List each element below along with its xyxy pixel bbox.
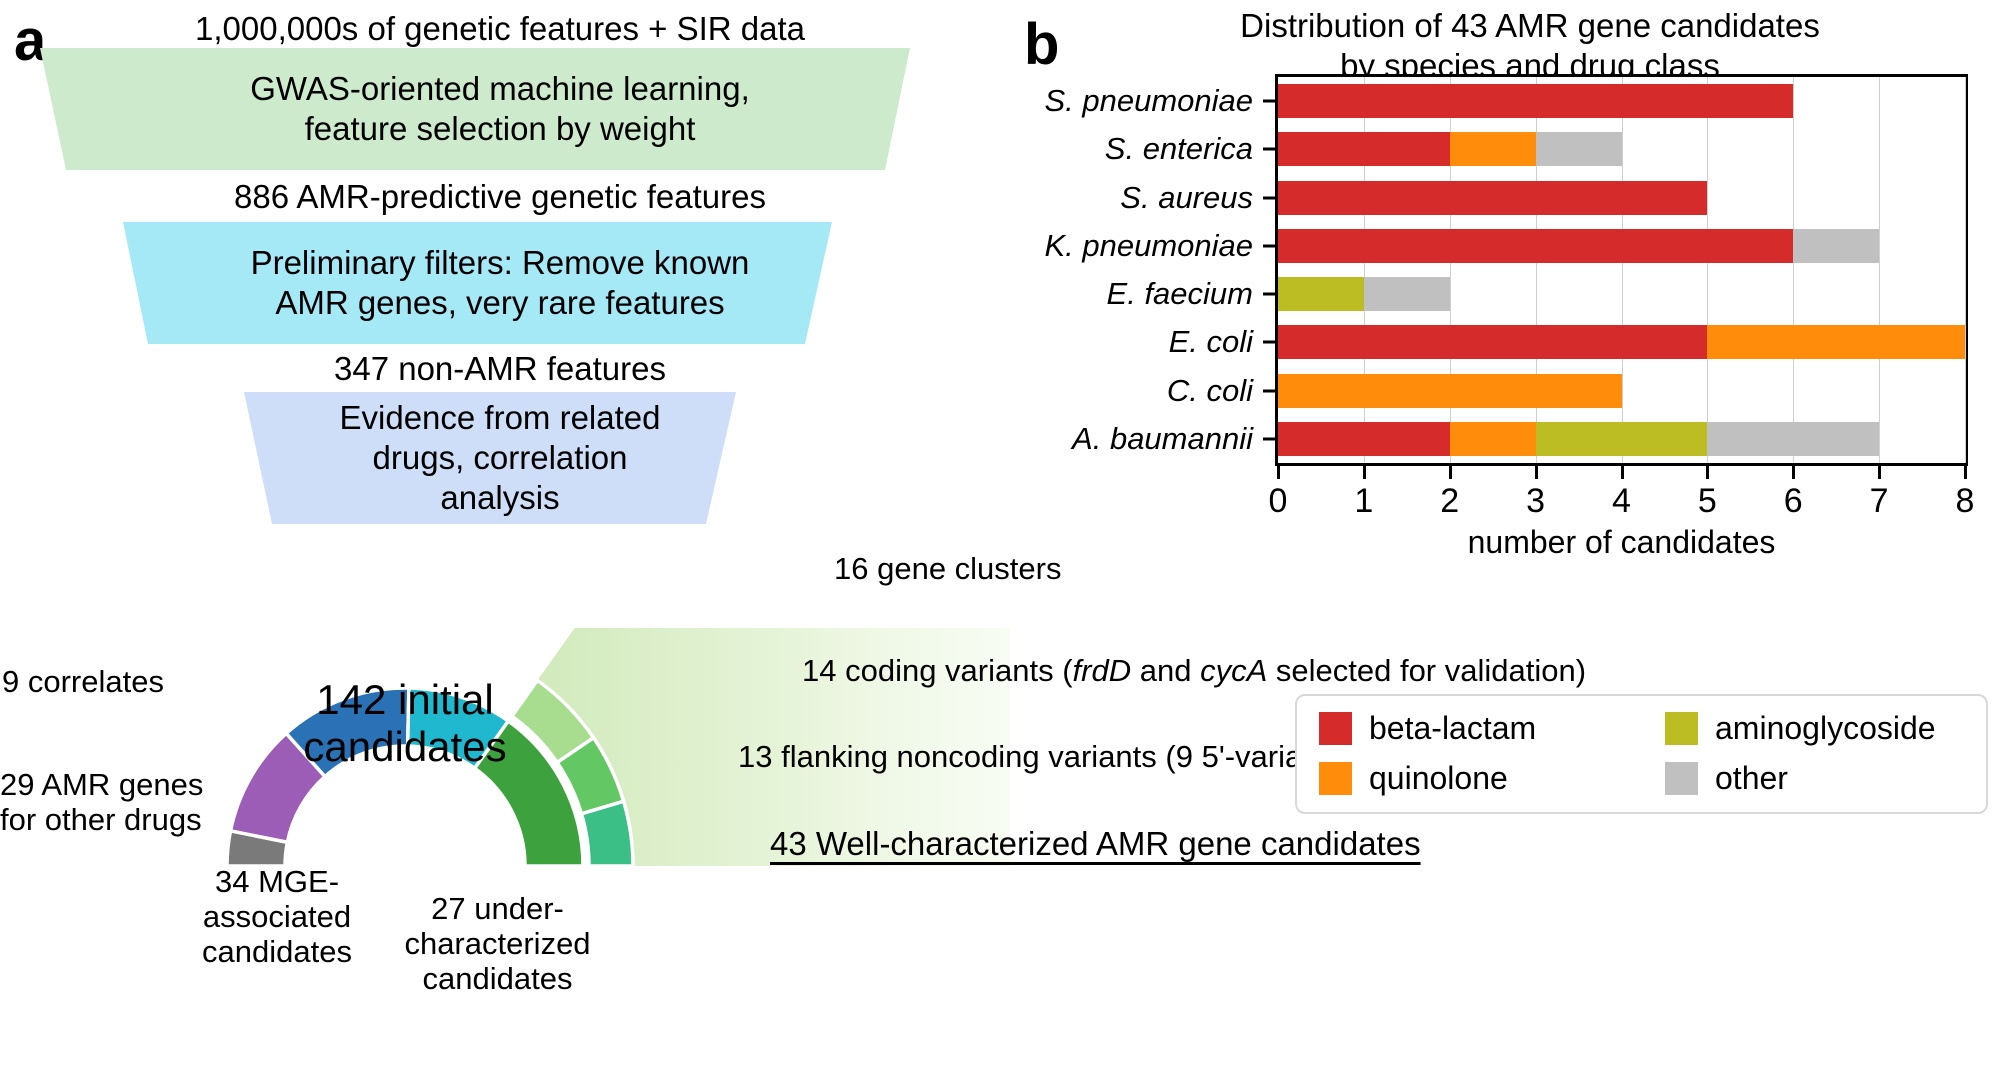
gridline-4 bbox=[1622, 77, 1623, 463]
funnel-band-preliminary-filters-label: Preliminary filters: Remove known AMR ge… bbox=[211, 243, 790, 324]
legend-item-betalactam[interactable]: beta-lactam bbox=[1319, 710, 1536, 747]
x-tick-mark-8 bbox=[1964, 466, 1967, 479]
bar-segment-beta-lactam bbox=[1278, 422, 1450, 456]
y-tick-mark bbox=[1263, 196, 1275, 199]
x-tick-mark-0 bbox=[1277, 466, 1280, 479]
funnel-band-evidence-label: Evidence from related drugs, correlation… bbox=[300, 398, 701, 519]
donut-label-amr-genes: 29 AMR genes for other drugs bbox=[0, 767, 203, 837]
legend-swatch-aminoglycoside bbox=[1665, 712, 1698, 745]
bar-row bbox=[1278, 325, 1965, 359]
x-tick-mark-5 bbox=[1706, 466, 1709, 479]
plot-area bbox=[1275, 74, 1968, 466]
y-tick-label-kpneumoniae: K. pneumoniae bbox=[1000, 228, 1253, 264]
x-tick-mark-3 bbox=[1535, 466, 1538, 479]
x-tick-label-7: 7 bbox=[1870, 482, 1889, 521]
donut-label-correlates: 9 correlates bbox=[2, 664, 164, 699]
donut-outer-segment-flanking-noncoding bbox=[581, 801, 633, 866]
legend-item-quinolone[interactable]: quinolone bbox=[1319, 760, 1508, 797]
legend-swatch-other bbox=[1665, 762, 1698, 795]
bar-segment-beta-lactam bbox=[1278, 229, 1793, 263]
bar-segment-quinolone bbox=[1450, 132, 1536, 166]
chart-legend: beta-lactamaminoglycosidequinoloneother bbox=[1295, 694, 1988, 814]
y-tick-mark bbox=[1263, 100, 1275, 103]
x-tick-label-4: 4 bbox=[1612, 482, 1631, 521]
y-tick-mark bbox=[1263, 341, 1275, 344]
bar-row bbox=[1278, 422, 1879, 456]
bar-row bbox=[1278, 229, 1879, 263]
legend-label: quinolone bbox=[1369, 760, 1508, 797]
x-tick-label-6: 6 bbox=[1784, 482, 1803, 521]
funnel-band-gwas: GWAS-oriented machine learning, feature … bbox=[0, 48, 1000, 170]
bar-segment-other bbox=[1707, 422, 1879, 456]
x-tick-label-0: 0 bbox=[1269, 482, 1288, 521]
x-tick-mark-6 bbox=[1792, 466, 1795, 479]
funnel-band-preliminary-filters: Preliminary filters: Remove known AMR ge… bbox=[0, 222, 1000, 344]
bar-row bbox=[1278, 277, 1450, 311]
legend-label: other bbox=[1715, 760, 1788, 797]
bar-segment-other bbox=[1793, 229, 1879, 263]
y-tick-mark bbox=[1263, 437, 1275, 440]
funnel-text-347-features: 347 non-AMR features bbox=[0, 350, 1000, 389]
gridline-7 bbox=[1879, 77, 1880, 463]
x-tick-mark-2 bbox=[1449, 466, 1452, 479]
bar-segment-quinolone bbox=[1278, 374, 1622, 408]
x-tick-mark-1 bbox=[1363, 466, 1366, 479]
legend-swatch-quinolone bbox=[1319, 762, 1352, 795]
legend-label: beta-lactam bbox=[1369, 710, 1536, 747]
y-tick-label-spneumoniae: S. pneumoniae bbox=[1000, 83, 1253, 119]
bar-segment-beta-lactam bbox=[1278, 325, 1707, 359]
bar-segment-quinolone bbox=[1450, 422, 1536, 456]
legend-item-other[interactable]: other bbox=[1665, 760, 1788, 797]
bar-segment-aminoglycoside bbox=[1536, 422, 1708, 456]
funnel-band-evidence: Evidence from related drugs, correlation… bbox=[0, 392, 1000, 524]
bar-segment-aminoglycoside bbox=[1278, 277, 1364, 311]
bar-segment-other bbox=[1364, 277, 1450, 311]
donut-center-label: 142 initial candidates bbox=[265, 676, 545, 770]
y-tick-label-ccoli: C. coli bbox=[1000, 373, 1253, 409]
y-tick-mark bbox=[1263, 293, 1275, 296]
donut-label-mge: 34 MGE- associated candidates bbox=[172, 864, 382, 969]
bar-row bbox=[1278, 84, 1793, 118]
funnel-band-gwas-label: GWAS-oriented machine learning, feature … bbox=[210, 69, 790, 150]
x-tick-label-2: 2 bbox=[1440, 482, 1459, 521]
x-tick-mark-7 bbox=[1878, 466, 1881, 479]
gridline-6 bbox=[1793, 77, 1794, 463]
y-tick-mark bbox=[1263, 389, 1275, 392]
bar-segment-beta-lactam bbox=[1278, 84, 1793, 118]
gridline-5 bbox=[1707, 77, 1708, 463]
bar-row bbox=[1278, 132, 1622, 166]
y-tick-label-ecoli: E. coli bbox=[1000, 324, 1253, 360]
x-tick-label-1: 1 bbox=[1354, 482, 1373, 521]
y-tick-mark bbox=[1263, 244, 1275, 247]
y-tick-label-abaumannii: A. baumannii bbox=[1000, 421, 1253, 457]
legend-item-aminoglycoside[interactable]: aminoglycoside bbox=[1665, 710, 1936, 747]
x-tick-label-8: 8 bbox=[1956, 482, 1975, 521]
gridline-8 bbox=[1965, 77, 1966, 463]
bar-row bbox=[1278, 374, 1622, 408]
legend-label: aminoglycoside bbox=[1715, 710, 1936, 747]
y-tick-label-efaecium: E. faecium bbox=[1000, 276, 1253, 312]
bar-segment-beta-lactam bbox=[1278, 181, 1707, 215]
funnel-text-886-features: 886 AMR-predictive genetic features bbox=[0, 178, 1000, 217]
legend-swatch-betalactam bbox=[1319, 712, 1352, 745]
bar-segment-quinolone bbox=[1707, 325, 1965, 359]
bar-row bbox=[1278, 181, 1707, 215]
funnel-text-input-features: 1,000,000s of genetic features + SIR dat… bbox=[0, 10, 1000, 49]
y-tick-label-saureus: S. aureus bbox=[1000, 180, 1253, 216]
x-axis-label: number of candidates bbox=[1275, 524, 1968, 561]
x-tick-label-3: 3 bbox=[1526, 482, 1545, 521]
y-tick-mark bbox=[1263, 148, 1275, 151]
x-tick-mark-4 bbox=[1621, 466, 1624, 479]
bar-segment-other bbox=[1536, 132, 1622, 166]
y-tick-label-senterica: S. enterica bbox=[1000, 131, 1253, 167]
donut-label-under-characterized: 27 under- characterized candidates bbox=[390, 891, 605, 996]
bar-segment-beta-lactam bbox=[1278, 132, 1450, 166]
x-tick-label-5: 5 bbox=[1698, 482, 1717, 521]
